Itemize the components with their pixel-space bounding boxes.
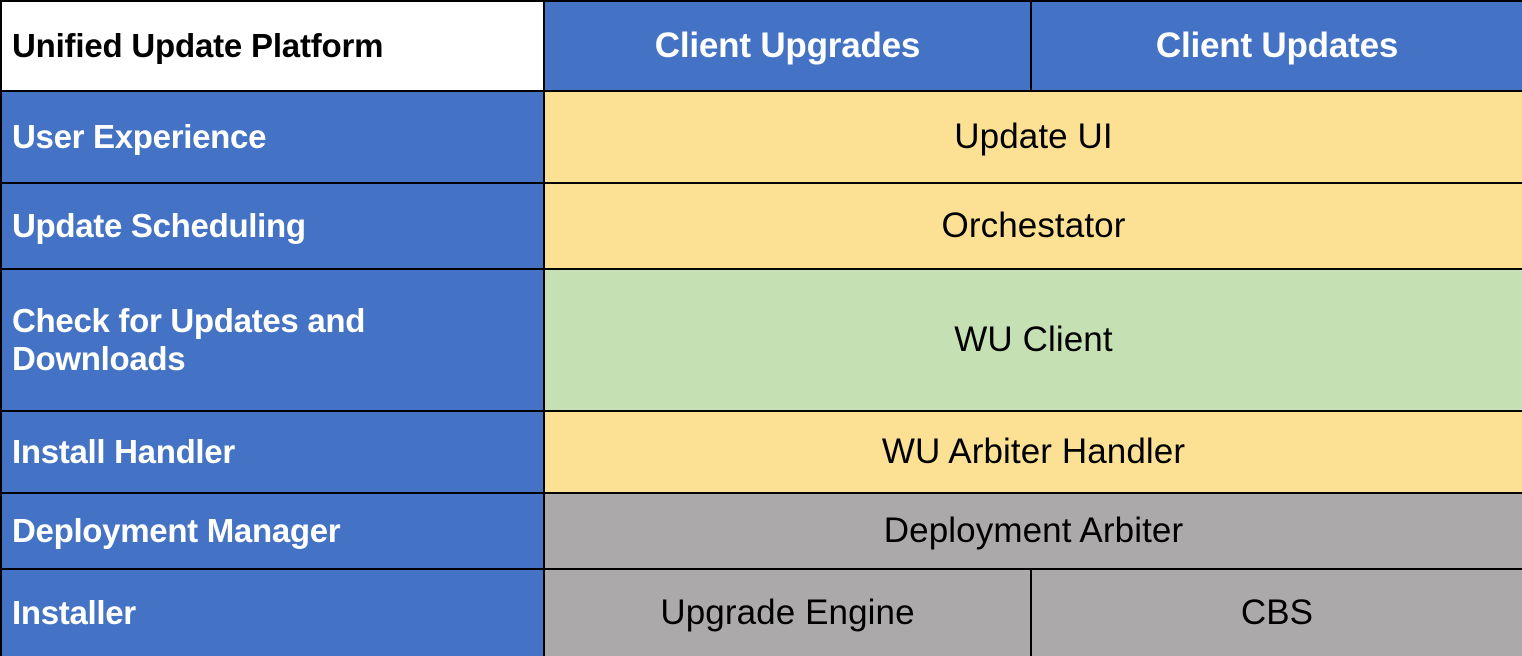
cell-update-ui: Update UI <box>544 91 1522 183</box>
row-label-deployment-manager: Deployment Manager <box>1 493 544 569</box>
table-header-row: Unified Update Platform Client Upgrades … <box>1 1 1522 91</box>
table-row: Check for Updates and Downloads WU Clien… <box>1 269 1522 411</box>
row-label-check-for-updates-and-downloads: Check for Updates and Downloads <box>1 269 544 411</box>
architecture-matrix-table: Unified Update Platform Client Upgrades … <box>0 0 1522 656</box>
row-label-installer: Installer <box>1 569 544 656</box>
table-row: User Experience Update UI <box>1 91 1522 183</box>
row-label-update-scheduling: Update Scheduling <box>1 183 544 269</box>
cell-upgrade-engine: Upgrade Engine <box>544 569 1031 656</box>
table-row: Deployment Manager Deployment Arbiter <box>1 493 1522 569</box>
table-row: Install Handler WU Arbiter Handler <box>1 411 1522 493</box>
row-label-user-experience: User Experience <box>1 91 544 183</box>
column-header-client-updates: Client Updates <box>1031 1 1522 91</box>
cell-orchestator: Orchestator <box>544 183 1522 269</box>
unified-update-platform-diagram: Unified Update Platform Client Upgrades … <box>0 0 1522 656</box>
column-header-client-upgrades: Client Upgrades <box>544 1 1031 91</box>
table-row: Installer Upgrade Engine CBS <box>1 569 1522 656</box>
cell-cbs: CBS <box>1031 569 1522 656</box>
row-label-install-handler: Install Handler <box>1 411 544 493</box>
cell-wu-arbiter-handler: WU Arbiter Handler <box>544 411 1522 493</box>
cell-wu-client: WU Client <box>544 269 1522 411</box>
page-title: Unified Update Platform <box>1 1 544 91</box>
table-row: Update Scheduling Orchestator <box>1 183 1522 269</box>
cell-deployment-arbiter: Deployment Arbiter <box>544 493 1522 569</box>
